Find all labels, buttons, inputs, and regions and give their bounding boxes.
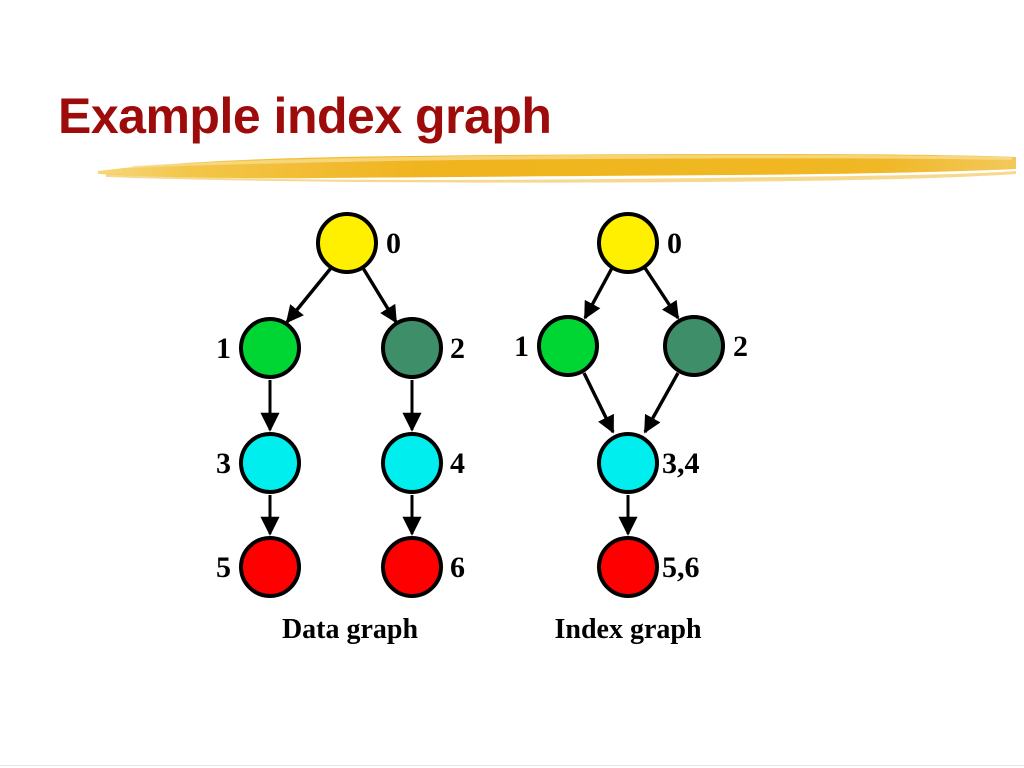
- data-node-3[interactable]: [241, 434, 299, 492]
- index-node-56-label: 5,6: [662, 551, 700, 584]
- data-node-0-label: 0: [386, 227, 401, 260]
- index-graph-edges: [584, 268, 678, 534]
- data-node-2-label: 2: [450, 332, 465, 365]
- index-node-2[interactable]: [665, 317, 723, 375]
- data-node-2[interactable]: [383, 319, 441, 377]
- edge-d0-d1: [287, 268, 331, 322]
- edge-i0-i2: [645, 268, 678, 318]
- edge-i0-i1: [585, 268, 612, 318]
- brush-stroke-decoration: [92, 146, 1020, 184]
- brush-stroke-fray: [106, 171, 1016, 183]
- data-node-4-label: 4: [450, 447, 465, 480]
- footer-divider: [0, 765, 1024, 766]
- brush-stroke-highlight: [132, 155, 1012, 168]
- data-node-1-label: 1: [216, 332, 231, 365]
- slide: Example index graph: [0, 0, 1024, 768]
- data-node-5-label: 5: [216, 551, 231, 584]
- edge-i2-i34: [645, 373, 678, 432]
- index-graph-labels: 0 1 2 3,4 5,6: [514, 227, 748, 584]
- data-node-6[interactable]: [383, 538, 441, 596]
- data-node-4[interactable]: [383, 434, 441, 492]
- brush-stroke-body: [98, 154, 1016, 178]
- index-node-56[interactable]: [599, 538, 657, 596]
- data-graph-labels: 0 1 2 3 4 5 6: [216, 227, 465, 584]
- edge-d0-d2: [363, 268, 396, 322]
- index-node-2-label: 2: [733, 330, 748, 363]
- data-node-3-label: 3: [216, 447, 231, 480]
- index-node-1-label: 1: [514, 330, 529, 363]
- index-node-1[interactable]: [539, 317, 597, 375]
- data-graph-nodes: [241, 214, 441, 596]
- data-graph-caption: Data graph: [200, 614, 500, 646]
- data-node-1[interactable]: [241, 319, 299, 377]
- data-node-0[interactable]: [318, 214, 376, 272]
- index-node-34-label: 3,4: [662, 447, 700, 480]
- data-graph-edges: [270, 268, 412, 534]
- data-node-5[interactable]: [241, 538, 299, 596]
- data-node-6-label: 6: [450, 551, 465, 584]
- index-node-0-label: 0: [667, 227, 682, 260]
- index-graph-nodes: [539, 214, 723, 596]
- index-graph-caption: Index graph: [478, 614, 778, 646]
- page-title: Example index graph: [58, 88, 958, 144]
- index-node-0[interactable]: [599, 214, 657, 272]
- index-node-34[interactable]: [599, 434, 657, 492]
- edge-i1-i34: [584, 373, 613, 432]
